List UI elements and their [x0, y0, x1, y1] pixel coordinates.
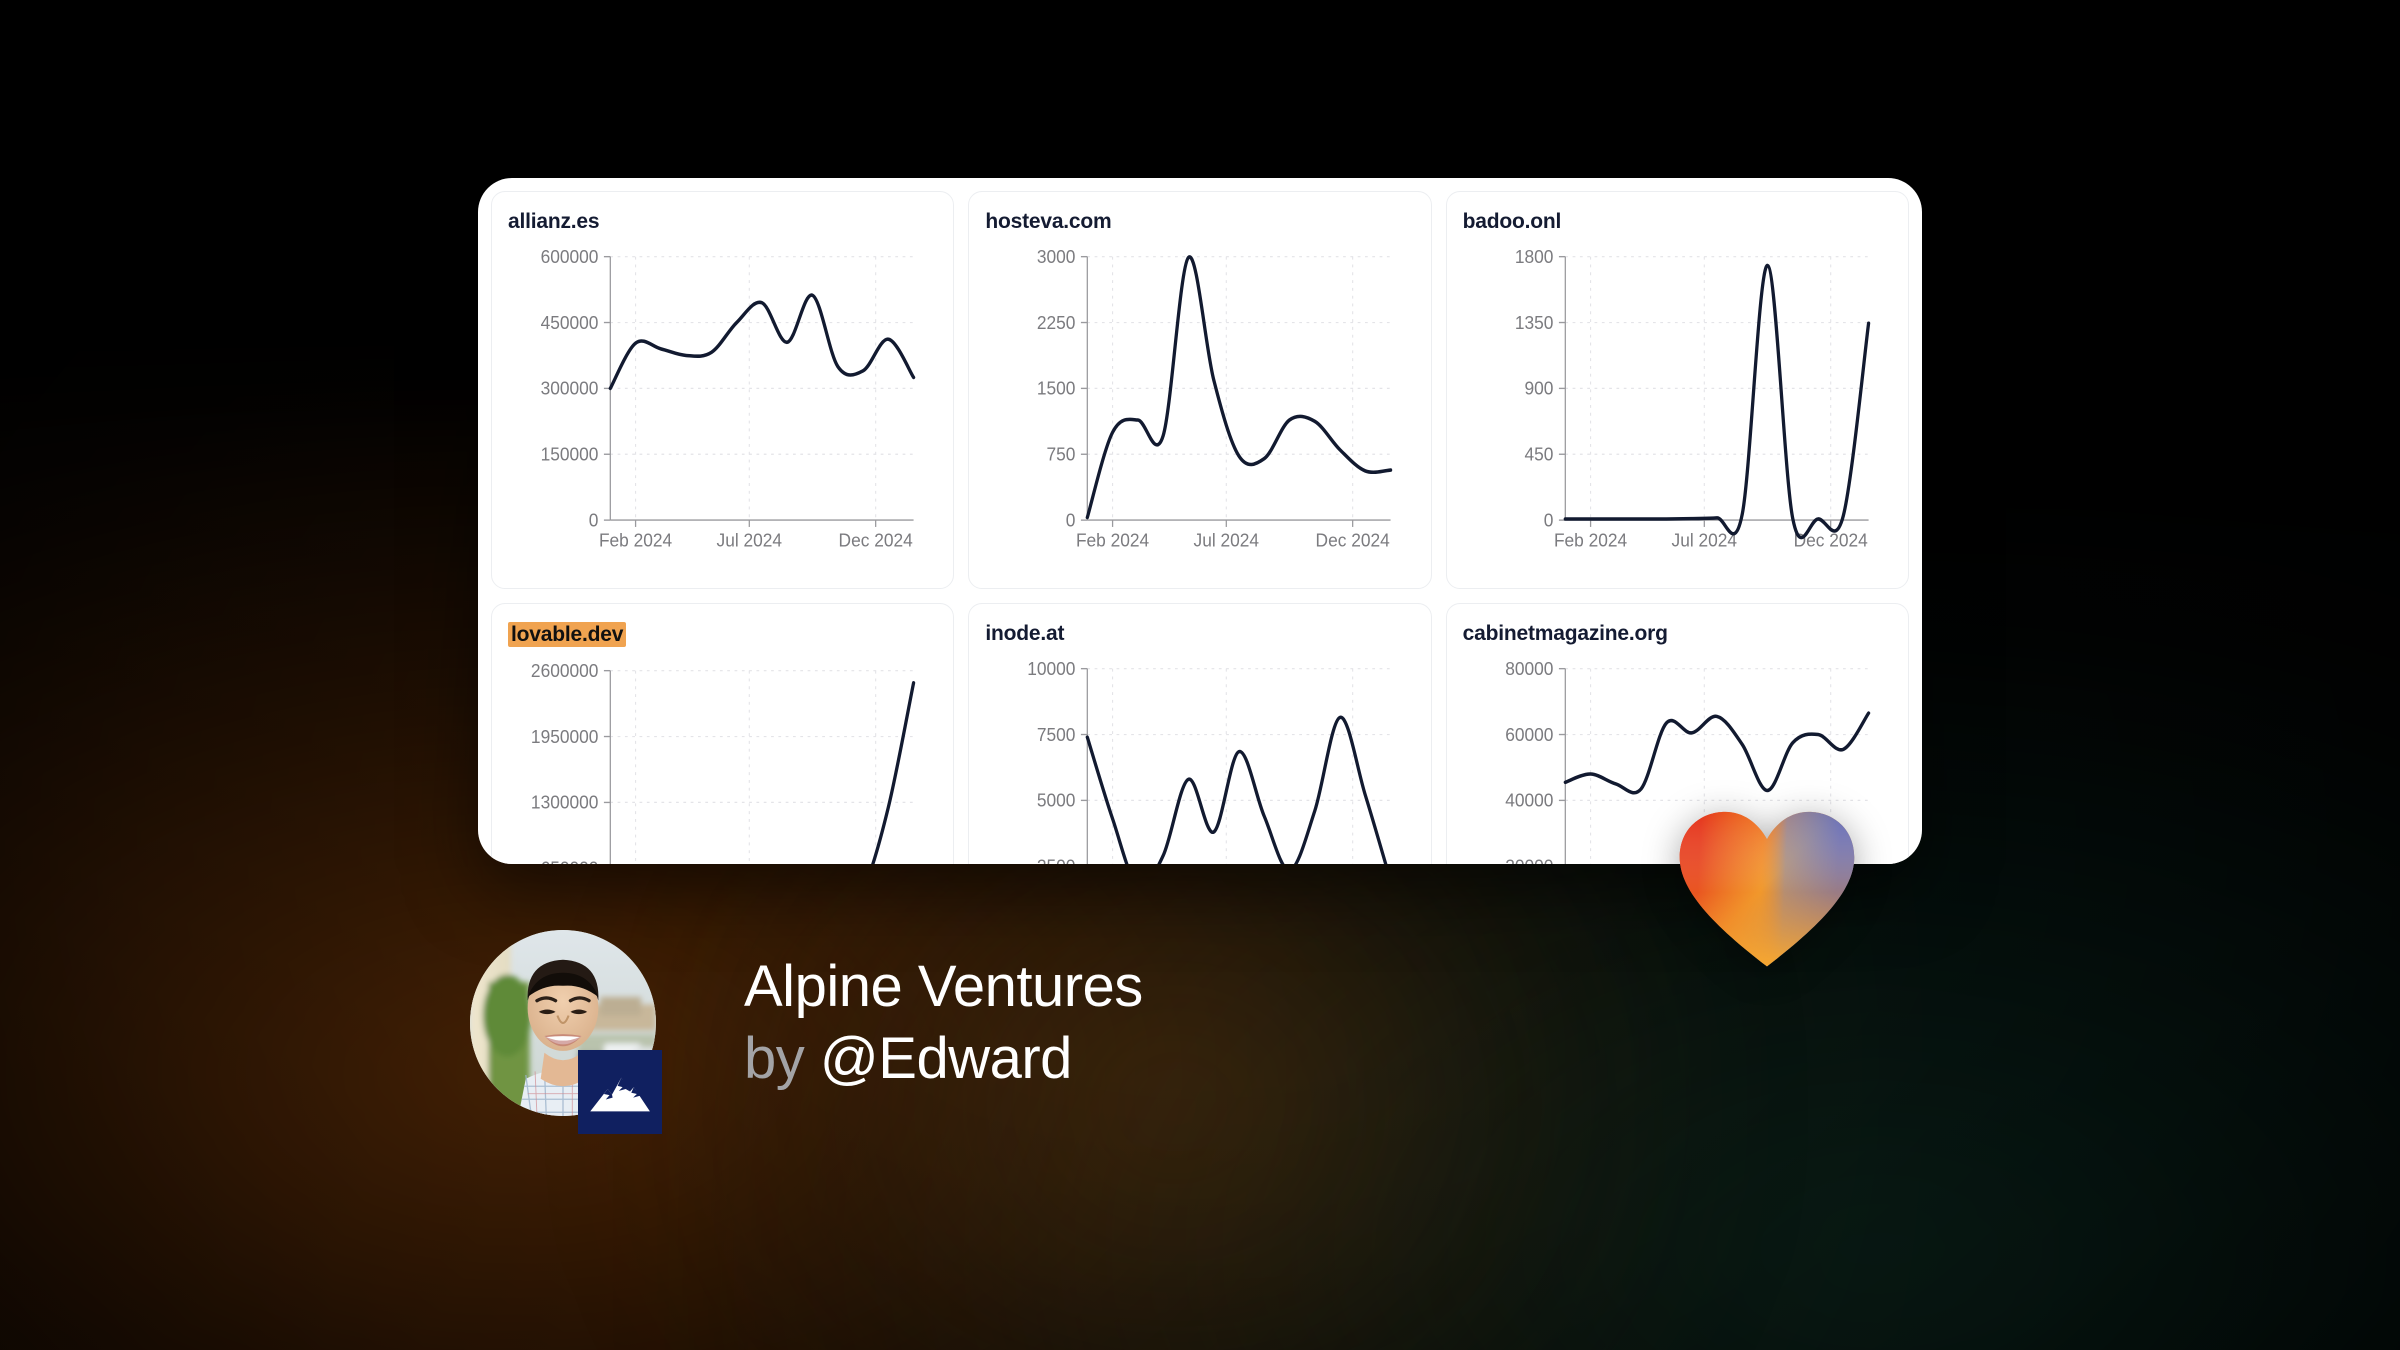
x-tick-label: Jul 2024: [1671, 530, 1737, 551]
y-tick-label: 5000: [1037, 790, 1076, 811]
y-tick-label: 10000: [1028, 659, 1076, 680]
chart-card[interactable]: inode.at25005000750010000Feb 2024Jul 202…: [968, 603, 1431, 864]
y-tick-label: 300000: [541, 378, 599, 399]
avatar: [470, 930, 656, 1116]
series-line: [610, 683, 913, 864]
x-tick-label: Dec 2024: [1316, 530, 1390, 551]
byline: by @Edward: [744, 1025, 1143, 1093]
x-tick-label: Jul 2024: [1194, 530, 1260, 551]
account-name: Alpine Ventures: [744, 953, 1143, 1021]
chart-plot: 045090013501800Feb 2024Jul 2024Dec 2024: [1463, 243, 1892, 565]
y-tick-label: 80000: [1505, 659, 1553, 680]
series-line: [1088, 257, 1391, 518]
y-tick-label: 1950000: [531, 726, 599, 747]
mountain-logo-icon: [578, 1050, 662, 1134]
chart-plot: 25005000750010000Feb 2024Jul 2024Dec 202…: [985, 655, 1414, 864]
chart-card[interactable]: hosteva.com0750150022503000Feb 2024Jul 2…: [968, 191, 1431, 589]
y-tick-label: 1300000: [531, 792, 599, 813]
y-tick-label: 450000: [541, 312, 599, 333]
y-tick-label: 1800: [1515, 247, 1554, 268]
y-tick-label: 1350: [1515, 312, 1554, 333]
y-tick-label: 150000: [541, 444, 599, 465]
chart-title: hosteva.com: [985, 210, 1111, 233]
y-tick-label: 750: [1047, 444, 1076, 465]
chart-card[interactable]: badoo.onl045090013501800Feb 2024Jul 2024…: [1446, 191, 1909, 589]
series-line: [1088, 717, 1391, 864]
chart-plot: 0150000300000450000600000Feb 2024Jul 202…: [508, 243, 937, 565]
x-tick-label: Dec 2024: [839, 530, 913, 551]
series-line: [610, 295, 913, 388]
series-line: [1565, 713, 1868, 793]
y-tick-label: 2250: [1037, 312, 1076, 333]
x-tick-label: Feb 2024: [1076, 530, 1149, 551]
chart-card[interactable]: lovable.dev650000130000019500002600000Fe…: [491, 603, 954, 864]
chart-plot: 650000130000019500002600000Feb 2024Jul 2…: [508, 657, 937, 864]
series-line: [1565, 266, 1868, 538]
x-tick-label: Feb 2024: [1554, 530, 1627, 551]
chart-title: cabinetmagazine.org: [1463, 622, 1668, 645]
byline-by-word: by: [744, 1026, 804, 1091]
y-tick-label: 60000: [1505, 724, 1553, 745]
y-tick-label: 0: [1066, 510, 1076, 531]
y-tick-label: 20000: [1505, 856, 1553, 864]
y-tick-label: 1500: [1037, 378, 1076, 399]
y-tick-label: 7500: [1037, 724, 1076, 745]
footer-text: Alpine Ventures by @Edward: [744, 953, 1143, 1094]
chart-title: badoo.onl: [1463, 210, 1562, 233]
y-tick-label: 0: [1543, 510, 1553, 531]
x-tick-label: Feb 2024: [599, 530, 672, 551]
chart-grid: allianz.es0150000300000450000600000Feb 2…: [478, 178, 1922, 864]
chart-title: inode.at: [985, 622, 1064, 645]
chart-title: lovable.dev: [508, 622, 626, 647]
heart-icon: [1672, 810, 1862, 970]
y-tick-label: 600000: [541, 247, 599, 268]
y-tick-label: 650000: [541, 858, 599, 864]
y-tick-label: 40000: [1505, 790, 1553, 811]
chart-title: allianz.es: [508, 210, 599, 233]
y-tick-label: 2500: [1037, 856, 1076, 864]
chart-plot: 0750150022503000Feb 2024Jul 2024Dec 2024: [985, 243, 1414, 565]
y-tick-label: 0: [589, 510, 599, 531]
x-tick-label: Jul 2024: [717, 530, 783, 551]
y-tick-label: 900: [1524, 378, 1553, 399]
footer-attribution: Alpine Ventures by @Edward: [470, 930, 1143, 1116]
dashboard-window: allianz.es0150000300000450000600000Feb 2…: [478, 178, 1922, 864]
y-tick-label: 3000: [1037, 247, 1076, 268]
y-tick-label: 450: [1524, 444, 1553, 465]
y-tick-label: 2600000: [531, 661, 599, 682]
chart-card[interactable]: allianz.es0150000300000450000600000Feb 2…: [491, 191, 954, 589]
byline-handle[interactable]: @Edward: [820, 1026, 1072, 1091]
